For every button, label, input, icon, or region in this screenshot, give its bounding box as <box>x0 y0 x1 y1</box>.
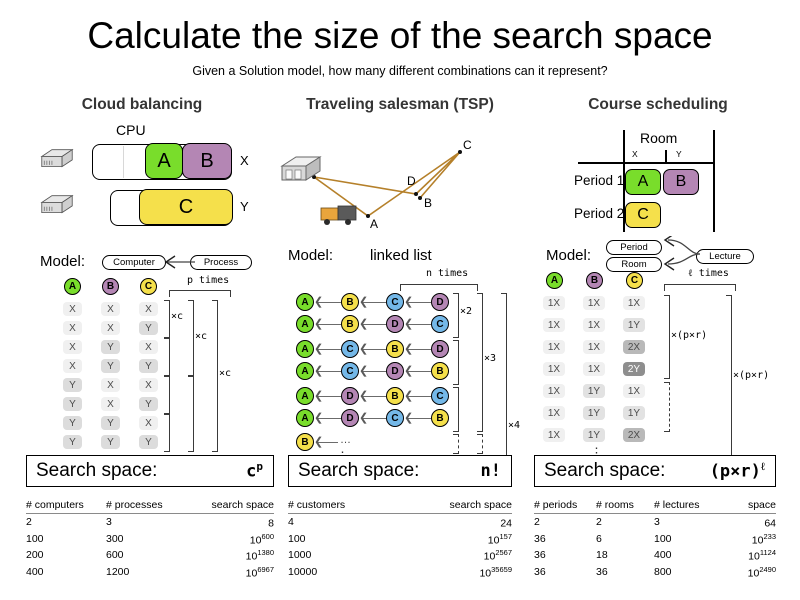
th-customers: # customers <box>288 497 418 514</box>
room-label: Room <box>640 130 677 146</box>
cell-customers: 4 <box>288 514 418 531</box>
cell-processes: 600 <box>106 547 191 564</box>
column-heading-tsp: Traveling salesman (TSP) <box>270 96 530 114</box>
model-word: Model: <box>288 247 333 264</box>
th-processes: # processes <box>106 497 191 514</box>
chain-node: C <box>341 362 359 380</box>
enum-cell: 1Y <box>623 318 645 332</box>
cell-computers: 2 <box>26 514 106 531</box>
cell-space: 101124 <box>720 547 776 564</box>
timetable-cell-b: B <box>663 169 699 195</box>
enum-cell: X <box>63 321 82 335</box>
course-model-row: Model: Period Room Lecture <box>528 244 788 270</box>
th-space: search space <box>418 497 512 514</box>
point-label-c: C <box>463 138 472 152</box>
cell-space: 64 <box>720 514 776 531</box>
enum-cell: 1X <box>543 340 565 354</box>
room-col-y: Y <box>676 149 682 159</box>
brace-label-xc-3: ×c <box>219 368 231 379</box>
cloud-enumeration: A B C X X X X X Y X Y X X Y Y Y X X Y X … <box>12 276 272 456</box>
times-label-n: n times <box>426 268 468 279</box>
column-course-scheduling: Course scheduling Room X Y Period 1 A B … <box>528 96 788 450</box>
table-row: 2 2 3 64 <box>534 514 776 531</box>
enum-cell: Y <box>101 435 120 449</box>
enum-cell: Y <box>101 340 120 354</box>
search-space-formula-cloud: cp <box>246 460 273 482</box>
enum-cell: Y <box>101 416 120 430</box>
brace-label-pr-1: ×(p×r) <box>671 330 707 341</box>
chain-node: C <box>341 340 359 358</box>
enum-cell: X <box>101 302 120 316</box>
cell-lectures: 100 <box>654 531 720 548</box>
server-icon <box>40 194 74 216</box>
enum-cell: Y <box>63 378 82 392</box>
table-row: 200 600 101380 <box>26 547 274 564</box>
course-timetable: Room X Y Period 1 A B Period 2 C <box>528 114 788 244</box>
chain-node: A <box>296 293 314 311</box>
brace-label-x3: ×3 <box>484 353 496 364</box>
table-row: 2 3 8 <box>26 514 274 531</box>
chain-node: D <box>341 387 359 405</box>
chain-node: D <box>341 409 359 427</box>
table-row: 400 1200 106967 <box>26 564 274 581</box>
cell-space: 1035659 <box>418 564 512 581</box>
chain-node: C <box>386 293 404 311</box>
enum-cell: Y <box>139 397 158 411</box>
table-row: 36 6 100 10233 <box>534 531 776 548</box>
cell-rooms: 2 <box>596 514 654 531</box>
table-row: 36 36 800 102490 <box>534 564 776 581</box>
server-icon <box>40 148 74 170</box>
tsp-map: A B C D <box>270 114 530 244</box>
enum-cell: Y <box>139 435 158 449</box>
enum-cell: 1X <box>543 318 565 332</box>
cell-rooms: 36 <box>596 564 654 581</box>
truck-icon <box>318 202 364 228</box>
cell-rooms: 6 <box>596 531 654 548</box>
enum-cell: X <box>139 416 158 430</box>
cell-space: 102567 <box>418 547 512 564</box>
table-row: 1000 102567 <box>288 547 512 564</box>
enum-cell: Y <box>63 435 82 449</box>
cell-computers: 100 <box>26 531 106 548</box>
enum-header-b: B <box>586 272 603 289</box>
th-lectures: # lectures <box>654 497 720 514</box>
search-space-box-tsp: Search space: n! <box>288 455 512 487</box>
cell-rooms: 18 <box>596 547 654 564</box>
enum-cell: Y <box>101 359 120 373</box>
page-subtitle: Given a Solution model, how many differe… <box>0 64 800 78</box>
cell-periods: 36 <box>534 531 596 548</box>
table-row: 10000 1035659 <box>288 564 512 581</box>
chain-node: B <box>431 362 449 380</box>
cell-space: 102490 <box>720 564 776 581</box>
table-row: 4 24 <box>288 514 512 531</box>
chain-node: B <box>431 409 449 427</box>
cpu-bar-x: A B <box>92 144 232 180</box>
entity-lecture: Lecture <box>696 249 754 264</box>
table-row: 100 10157 <box>288 531 512 548</box>
enum-cell: X <box>63 340 82 354</box>
cell-computers: 400 <box>26 564 106 581</box>
chain-node: B <box>341 315 359 333</box>
cell-lectures: 400 <box>654 547 720 564</box>
tsp-model-row: Model: linked list <box>270 244 530 270</box>
cpu-segment-c: C <box>139 189 233 225</box>
enum-cell: 1X <box>623 384 645 398</box>
enum-cell: 1X <box>623 296 645 310</box>
ellipsis: … <box>340 434 351 446</box>
enum-cell: X <box>139 378 158 392</box>
enum-cell: 1X <box>543 406 565 420</box>
enum-cell: X <box>101 321 120 335</box>
relation-arrow <box>162 253 196 273</box>
search-space-box-cloud: Search space: cp <box>26 455 274 487</box>
cell-space: 10233 <box>720 531 776 548</box>
search-space-box-course: Search space: (p×r)ℓ <box>534 455 776 487</box>
cell-periods: 36 <box>534 547 596 564</box>
enum-cell: X <box>139 340 158 354</box>
cell-customers: 1000 <box>288 547 418 564</box>
tsp-enumeration: n times A ❮ B ❮ C ❮ D A ❮ B ❮ D ❮ C <box>270 270 530 450</box>
cell-space: 8 <box>191 514 274 531</box>
cell-lectures: 3 <box>654 514 720 531</box>
cloud-diagram: CPU A B X <box>12 120 272 250</box>
enum-cell: 1Y <box>583 428 605 442</box>
chain-node: B <box>296 433 314 451</box>
enum-cell: 1X <box>583 318 605 332</box>
chain-node: C <box>386 409 404 427</box>
table-header-row: # customers search space <box>288 497 512 514</box>
column-heading-course: Course scheduling <box>528 96 788 114</box>
enum-cell: 1X <box>583 296 605 310</box>
cell-lectures: 800 <box>654 564 720 581</box>
chain-node: A <box>296 340 314 358</box>
cell-space: 10600 <box>191 531 274 548</box>
enum-header-c: C <box>140 278 157 295</box>
cell-customers: 10000 <box>288 564 418 581</box>
period-label-1: Period 1 <box>574 173 624 188</box>
enum-cell: X <box>139 302 158 316</box>
chain-node: B <box>341 293 359 311</box>
table-row: 100 300 10600 <box>26 531 274 548</box>
model-text-linked-list: linked list <box>370 247 432 264</box>
table-row: 36 18 400 101124 <box>534 547 776 564</box>
cell-processes: 1200 <box>106 564 191 581</box>
enum-cell: Y <box>63 397 82 411</box>
cpu-segment-a: A <box>145 143 183 179</box>
cell-customers: 100 <box>288 531 418 548</box>
chain-node: D <box>431 293 449 311</box>
chain-node: A <box>296 409 314 427</box>
cell-space: 10157 <box>418 531 512 548</box>
enum-cell: X <box>101 397 120 411</box>
cell-space: 106967 <box>191 564 274 581</box>
cell-periods: 2 <box>534 514 596 531</box>
point-label-b: B <box>424 196 432 210</box>
page-title: Calculate the size of the search space <box>0 14 800 58</box>
enum-cell: X <box>101 378 120 392</box>
times-label-l: ℓ times <box>688 268 729 279</box>
enum-cell: 2X <box>623 340 645 354</box>
enum-cell: 1Y <box>583 384 605 398</box>
th-space: space <box>720 497 776 514</box>
chain-node: A <box>296 362 314 380</box>
entity-period: Period <box>606 240 662 255</box>
table-tsp: # customers search space 4 24 100 10157 … <box>288 497 512 580</box>
enum-cell: Y <box>63 416 82 430</box>
enum-cell: 1X <box>583 340 605 354</box>
model-word: Model: <box>40 253 85 270</box>
brace-label-xc-1: ×c <box>171 311 183 322</box>
times-label-p: p times <box>187 275 229 286</box>
search-space-formula-tsp: n! <box>481 461 511 481</box>
point-label-a: A <box>370 217 378 231</box>
computer-label-x: X <box>240 153 249 168</box>
enum-cell: 1X <box>543 296 565 310</box>
chain-node: B <box>386 340 404 358</box>
chain-node: D <box>431 340 449 358</box>
enum-header-c: C <box>626 272 643 289</box>
search-space-label: Search space: <box>535 460 665 482</box>
enum-cell: 2Y <box>623 362 645 376</box>
entity-computer: Computer <box>102 255 166 270</box>
column-cloud-balancing: Cloud balancing CPU A B X <box>12 96 272 456</box>
slide-root: Calculate the size of the search space G… <box>0 0 800 600</box>
table-header-row: # periods # rooms # lectures space <box>534 497 776 514</box>
brace-label-x4: ×4 <box>508 420 520 431</box>
cell-space: 101380 <box>191 547 274 564</box>
enum-cell: Y <box>139 321 158 335</box>
enum-cell: 2X <box>623 428 645 442</box>
search-space-label: Search space: <box>289 460 419 482</box>
enum-header-a: A <box>546 272 563 289</box>
enum-cell: 1Y <box>623 406 645 420</box>
brace-label-pr-2: ×(p×r) <box>733 370 769 381</box>
brace-label-x2: ×2 <box>460 306 472 317</box>
enum-header-b: B <box>102 278 119 295</box>
th-periods: # periods <box>534 497 596 514</box>
chain-node: B <box>386 387 404 405</box>
enum-cell: 1X <box>543 428 565 442</box>
enum-cell: 1X <box>583 362 605 376</box>
cell-computers: 200 <box>26 547 106 564</box>
cell-space: 24 <box>418 514 512 531</box>
column-tsp: Traveling salesman (TSP) A B C D <box>270 96 530 450</box>
cell-processes: 3 <box>106 514 191 531</box>
timetable-cell-c: C <box>625 202 661 228</box>
period-label-2: Period 2 <box>574 206 624 221</box>
table-header-row: # computers # processes search space <box>26 497 274 514</box>
entity-process: Process <box>190 255 252 270</box>
chain-node: D <box>386 315 404 333</box>
enum-header-a: A <box>64 278 81 295</box>
room-col-x: X <box>632 149 638 159</box>
cell-processes: 300 <box>106 531 191 548</box>
chain-node: C <box>431 315 449 333</box>
point-label-d: D <box>407 174 416 188</box>
enum-cell: X <box>63 302 82 316</box>
table-course: # periods # rooms # lectures space 2 2 3… <box>534 497 776 580</box>
warehouse-icon <box>280 154 322 184</box>
cloud-model-row: Model: Computer Process <box>12 250 272 276</box>
timetable-cell-a: A <box>625 169 661 195</box>
course-enumeration: A B C 1X 1X 1X 1X 1X 1Y 1X 1X 2X 1X 1X 2… <box>528 270 788 450</box>
chain-node: D <box>386 362 404 380</box>
chain-node: A <box>296 315 314 333</box>
cell-periods: 36 <box>534 564 596 581</box>
computer-label-y: Y <box>240 199 249 214</box>
enum-cell: 1X <box>543 362 565 376</box>
model-word: Model: <box>546 247 591 264</box>
chain-node: A <box>296 387 314 405</box>
th-computers: # computers <box>26 497 106 514</box>
cpu-segment-b: B <box>182 143 232 179</box>
brace-label-xc-2: ×c <box>195 331 207 342</box>
cpu-label: CPU <box>116 122 146 138</box>
cpu-bar-y: C <box>110 190 232 226</box>
enum-cell: 1Y <box>583 406 605 420</box>
enum-cell: Y <box>139 359 158 373</box>
chain-node: C <box>431 387 449 405</box>
th-space: search space <box>191 497 274 514</box>
search-space-label: Search space: <box>27 460 157 482</box>
enum-cell: 1X <box>543 384 565 398</box>
enum-cell: X <box>63 359 82 373</box>
search-space-formula-course: (p×r)ℓ <box>710 460 775 482</box>
column-heading-cloud: Cloud balancing <box>12 96 272 114</box>
th-rooms: # rooms <box>596 497 654 514</box>
table-cloud: # computers # processes search space 2 3… <box>26 497 274 580</box>
